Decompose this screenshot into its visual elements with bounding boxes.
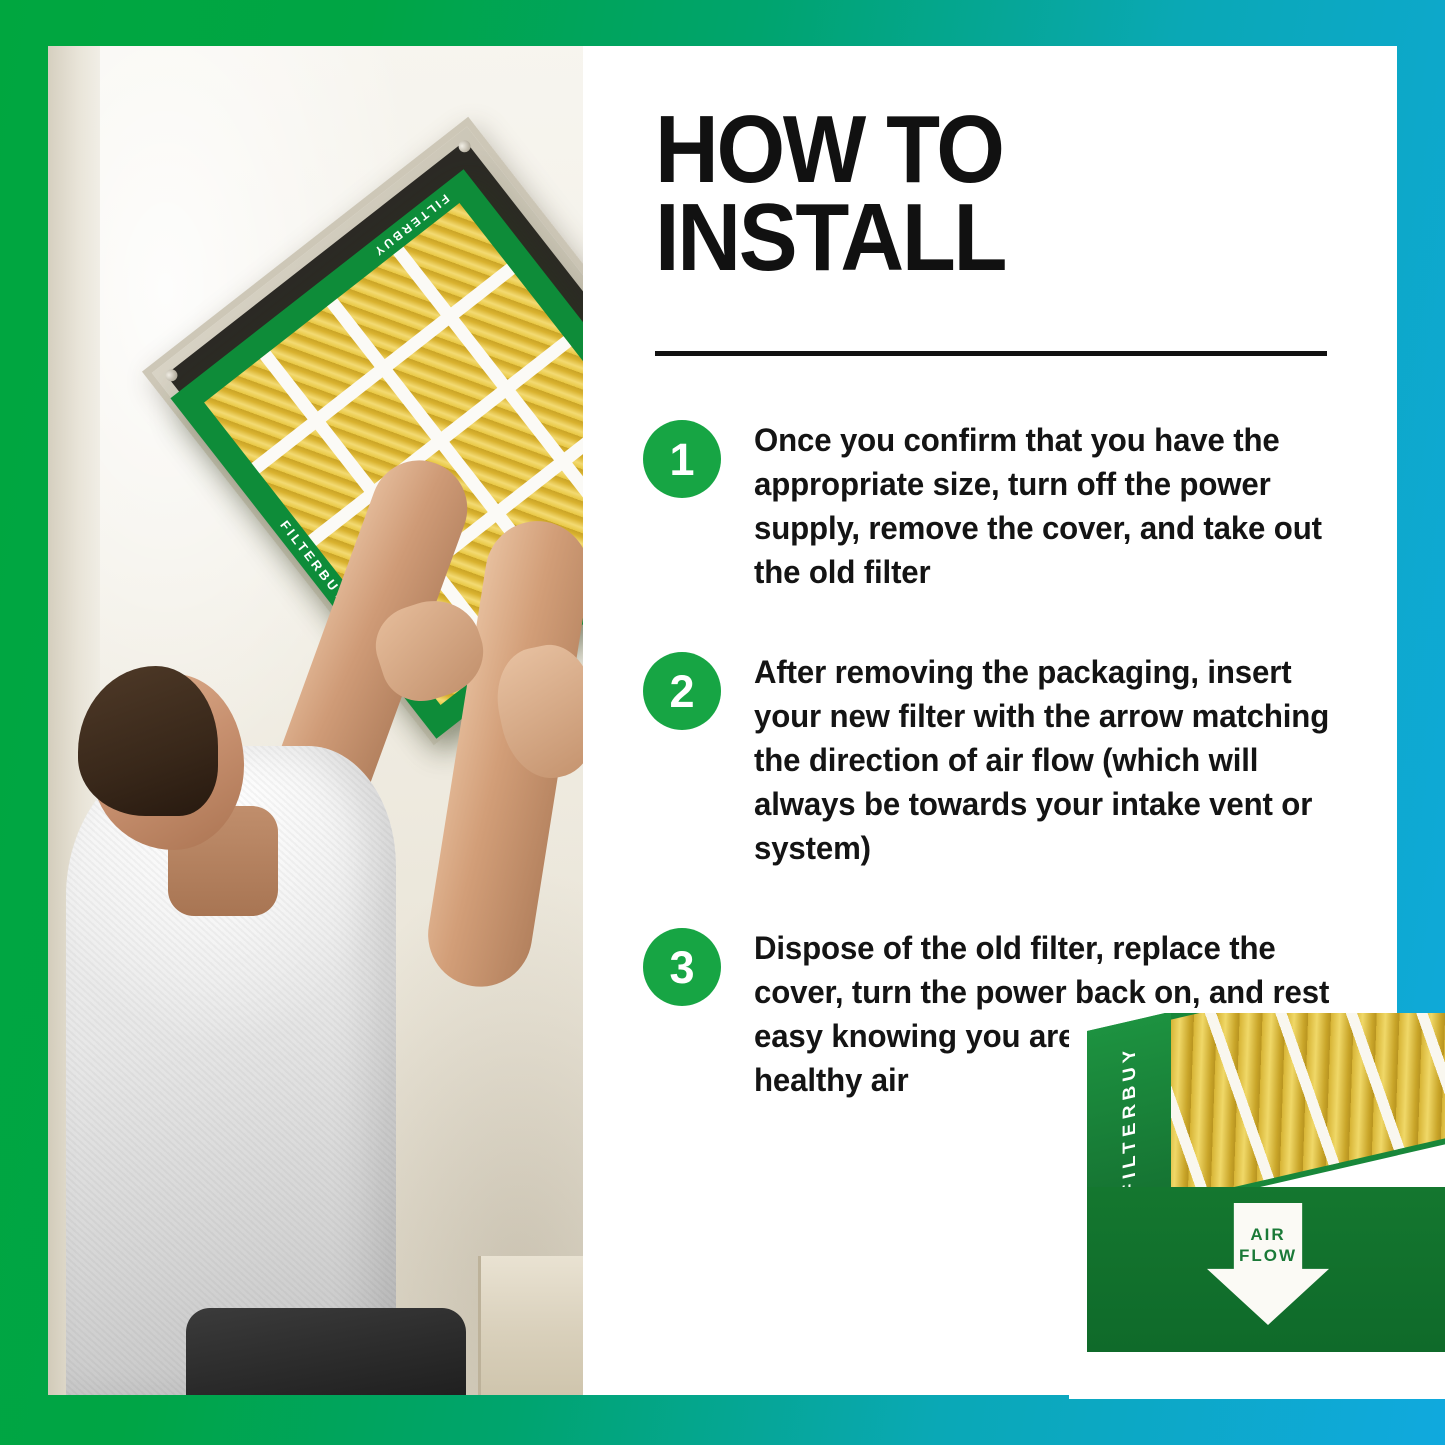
step-description: Once you confirm that you have the appro… (754, 418, 1342, 594)
poster-frame: FILTERBUY FILTERBUY HOW TO INSTALL (0, 0, 1445, 1445)
step-number-badge: 3 (643, 928, 721, 1006)
step-item: 2 After removing the packaging, insert y… (643, 650, 1373, 870)
install-photo: FILTERBUY FILTERBUY (48, 46, 583, 1395)
page-title: HOW TO INSTALL (655, 106, 1299, 283)
person-pants (186, 1308, 466, 1395)
step-description: Dispose of the old filter, replace the c… (754, 926, 1342, 1102)
steps-list: 1 Once you confirm that you have the app… (643, 418, 1373, 1158)
step-item: 1 Once you confirm that you have the app… (643, 418, 1373, 594)
step-number-badge: 1 (643, 420, 721, 498)
instructions-panel: HOW TO INSTALL 1 Once you confirm that y… (583, 46, 1397, 1395)
page-title-line-1: HOW TO (655, 106, 1299, 194)
step-description: After removing the packaging, insert you… (754, 650, 1342, 870)
baseboard (478, 1256, 583, 1395)
step-number-badge: 2 (643, 652, 721, 730)
title-divider (655, 351, 1327, 356)
poster-canvas: FILTERBUY FILTERBUY HOW TO INSTALL (48, 46, 1397, 1395)
step-item: 3 Dispose of the old filter, replace the… (643, 926, 1373, 1102)
page-title-line-2: INSTALL (655, 194, 1299, 282)
